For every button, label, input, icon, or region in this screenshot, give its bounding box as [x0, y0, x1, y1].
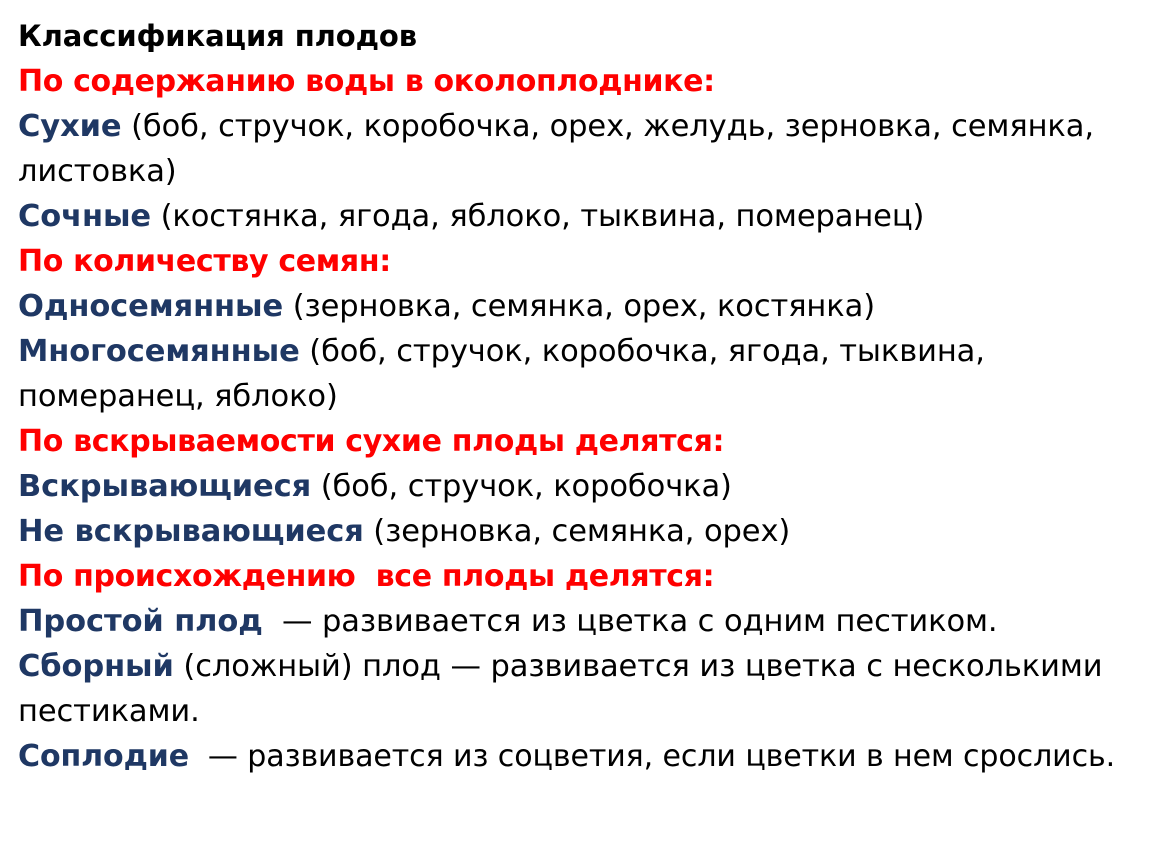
- term-description-simple-fruit: — развивается из цветка с одним пестиком…: [263, 604, 998, 639]
- term-description-aggregate-fruit: (сложный) плод — развивается из цветка с…: [174, 649, 1103, 684]
- term-label-juicy: Сочные: [18, 199, 151, 234]
- term-label-many-seeded: Многосемянные: [18, 334, 300, 369]
- term-label-dry: Сухие: [18, 109, 122, 144]
- list-item-aggregate-fruit: Сборный (сложный) плод — развивается из …: [18, 644, 1140, 689]
- term-label-simple-fruit: Простой плод: [18, 604, 263, 639]
- term-description-many-seeded: (боб, стручок, коробочка, ягода, тыквина…: [300, 334, 985, 369]
- list-item-multiple-fruit: Соплодие — развивается из соцветия, если…: [18, 734, 1123, 779]
- term-label-multiple-fruit: Соплодие: [18, 739, 189, 774]
- slide-canvas: Классификация плодов По содержанию воды …: [0, 0, 1150, 864]
- list-item-aggregate-fruit-continuation: пестиками.: [18, 689, 1140, 734]
- list-item-dry: Сухие (боб, стручок, коробочка, орех, же…: [18, 104, 1140, 149]
- list-item-many-seeded-continuation: померанец, яблоко): [18, 374, 1140, 419]
- list-item-juicy: Сочные (костянка, ягода, яблоко, тыквина…: [18, 194, 1140, 239]
- term-description-juicy: (костянка, ягода, яблоко, тыквина, помер…: [151, 199, 924, 234]
- term-label-one-seeded: Односемянные: [18, 289, 283, 324]
- list-item-dehiscent: Вскрывающиеся (боб, стручок, коробочка): [18, 464, 1140, 509]
- term-description-dry: (боб, стручок, коробочка, орех, желудь, …: [122, 109, 1094, 144]
- list-item-dry-continuation: листовка): [18, 149, 1140, 194]
- list-item-indehiscent: Не вскрывающиеся (зерновка, семянка, оре…: [18, 509, 1140, 554]
- page-title: Классификация плодов: [18, 14, 1140, 59]
- section-heading-origin: По происхождению все плоды делятся:: [18, 554, 1140, 599]
- term-description-dehiscent: (боб, стручок, коробочка): [311, 469, 732, 504]
- list-item-many-seeded: Многосемянные (боб, стручок, коробочка, …: [18, 329, 1140, 374]
- term-description-one-seeded: (зерновка, семянка, орех, костянка): [283, 289, 875, 324]
- section-heading-dehiscence: По вскрываемости сухие плоды делятся:: [18, 419, 1140, 464]
- list-item-one-seeded: Односемянные (зерновка, семянка, орех, к…: [18, 284, 1140, 329]
- term-label-aggregate-fruit: Сборный: [18, 649, 174, 684]
- term-label-dehiscent: Вскрывающиеся: [18, 469, 311, 504]
- section-heading-seed-count: По количеству семян:: [18, 239, 1140, 284]
- section-heading-water-content: По содержанию воды в околоплоднике:: [18, 59, 1140, 104]
- term-description-multiple-fruit: — развивается из соцветия, если цветки в…: [189, 739, 1115, 774]
- term-description-indehiscent: (зерновка, семянка, орех): [364, 514, 791, 549]
- term-label-indehiscent: Не вскрывающиеся: [18, 514, 364, 549]
- list-item-simple-fruit: Простой плод — развивается из цветка с о…: [18, 599, 1140, 644]
